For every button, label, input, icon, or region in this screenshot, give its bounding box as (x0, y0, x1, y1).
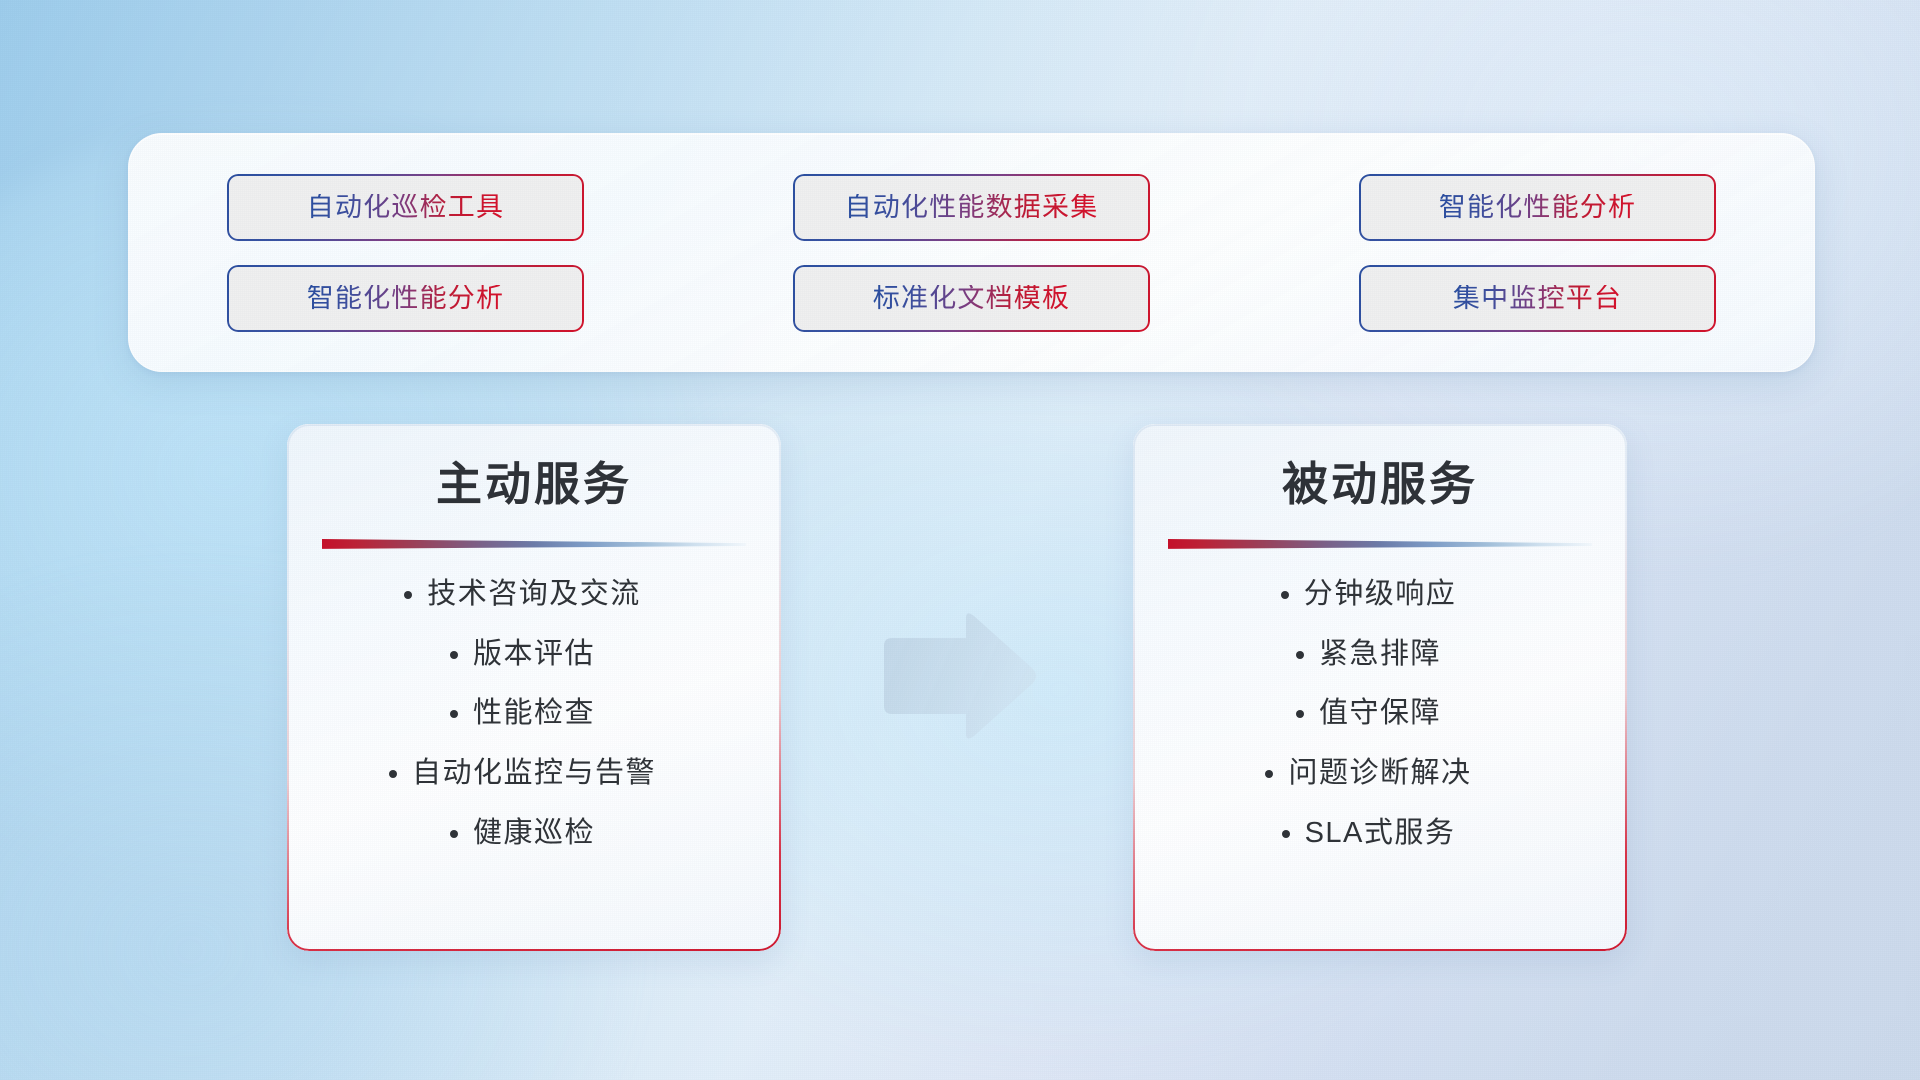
capability-pill-label: 标准化文档模板 (873, 285, 1070, 312)
list-item: 自动化监控与告警 (412, 756, 656, 791)
list-item: 紧急排障 (1319, 637, 1441, 672)
capability-pill-label: 自动化性能数据采集 (845, 194, 1099, 221)
service-card-reactive: 被动服务 分钟级响应 紧急排障 值守保障 问题诊断解决 SLA式服务 (1133, 424, 1627, 951)
list-item: 分钟级响应 (1304, 577, 1457, 612)
card-list-reactive: 分钟级响应 紧急排障 值守保障 问题诊断解决 SLA式服务 (1133, 577, 1627, 851)
list-item: 版本评估 (473, 637, 595, 672)
capability-pill-centralized-monitoring-platform[interactable]: 集中监控平台 (1359, 265, 1716, 332)
card-divider (1168, 537, 1592, 549)
card-title-reactive: 被动服务 (1282, 458, 1478, 511)
list-item: 技术咨询及交流 (427, 577, 641, 612)
capability-pill-label: 集中监控平台 (1453, 285, 1622, 312)
card-inner: 主动服务 技术咨询及交流 版本评估 性能检查 自动化监控与告警 健康巡检 (287, 424, 781, 951)
capability-row-1: 自动化巡检工具 自动化性能数据采集 智能化性能分析 (227, 174, 1716, 241)
arrow-right-icon (878, 612, 1038, 740)
list-item: 性能检查 (473, 696, 595, 731)
capability-pill-label: 智能化性能分析 (1439, 194, 1636, 221)
capability-row-2: 智能化性能分析 标准化文档模板 集中监控平台 (227, 265, 1716, 332)
card-title-proactive: 主动服务 (436, 458, 632, 511)
capability-pill-standardized-document-template[interactable]: 标准化文档模板 (793, 265, 1150, 332)
list-item: 健康巡检 (473, 816, 595, 851)
card-inner: 被动服务 分钟级响应 紧急排障 值守保障 问题诊断解决 SLA式服务 (1133, 424, 1627, 951)
capability-pill-automated-performance-data-collection[interactable]: 自动化性能数据采集 (793, 174, 1150, 241)
capability-pill-intelligent-performance-analysis[interactable]: 智能化性能分析 (1359, 174, 1716, 241)
capability-pill-intelligent-performance-analysis-2[interactable]: 智能化性能分析 (227, 265, 584, 332)
card-list-proactive: 技术咨询及交流 版本评估 性能检查 自动化监控与告警 健康巡检 (287, 577, 781, 851)
service-card-proactive: 主动服务 技术咨询及交流 版本评估 性能检查 自动化监控与告警 健康巡检 (287, 424, 781, 951)
list-item: SLA式服务 (1305, 816, 1456, 851)
capability-pill-label: 智能化性能分析 (307, 285, 504, 312)
card-divider (322, 537, 746, 549)
capability-pill-label: 自动化巡检工具 (307, 194, 504, 221)
list-item: 问题诊断解决 (1288, 756, 1471, 791)
capability-panel: 自动化巡检工具 自动化性能数据采集 智能化性能分析 智能化性能分析 标准化文档模… (128, 133, 1815, 372)
capability-pill-automated-inspection-tool[interactable]: 自动化巡检工具 (227, 174, 584, 241)
list-item: 值守保障 (1319, 696, 1441, 731)
